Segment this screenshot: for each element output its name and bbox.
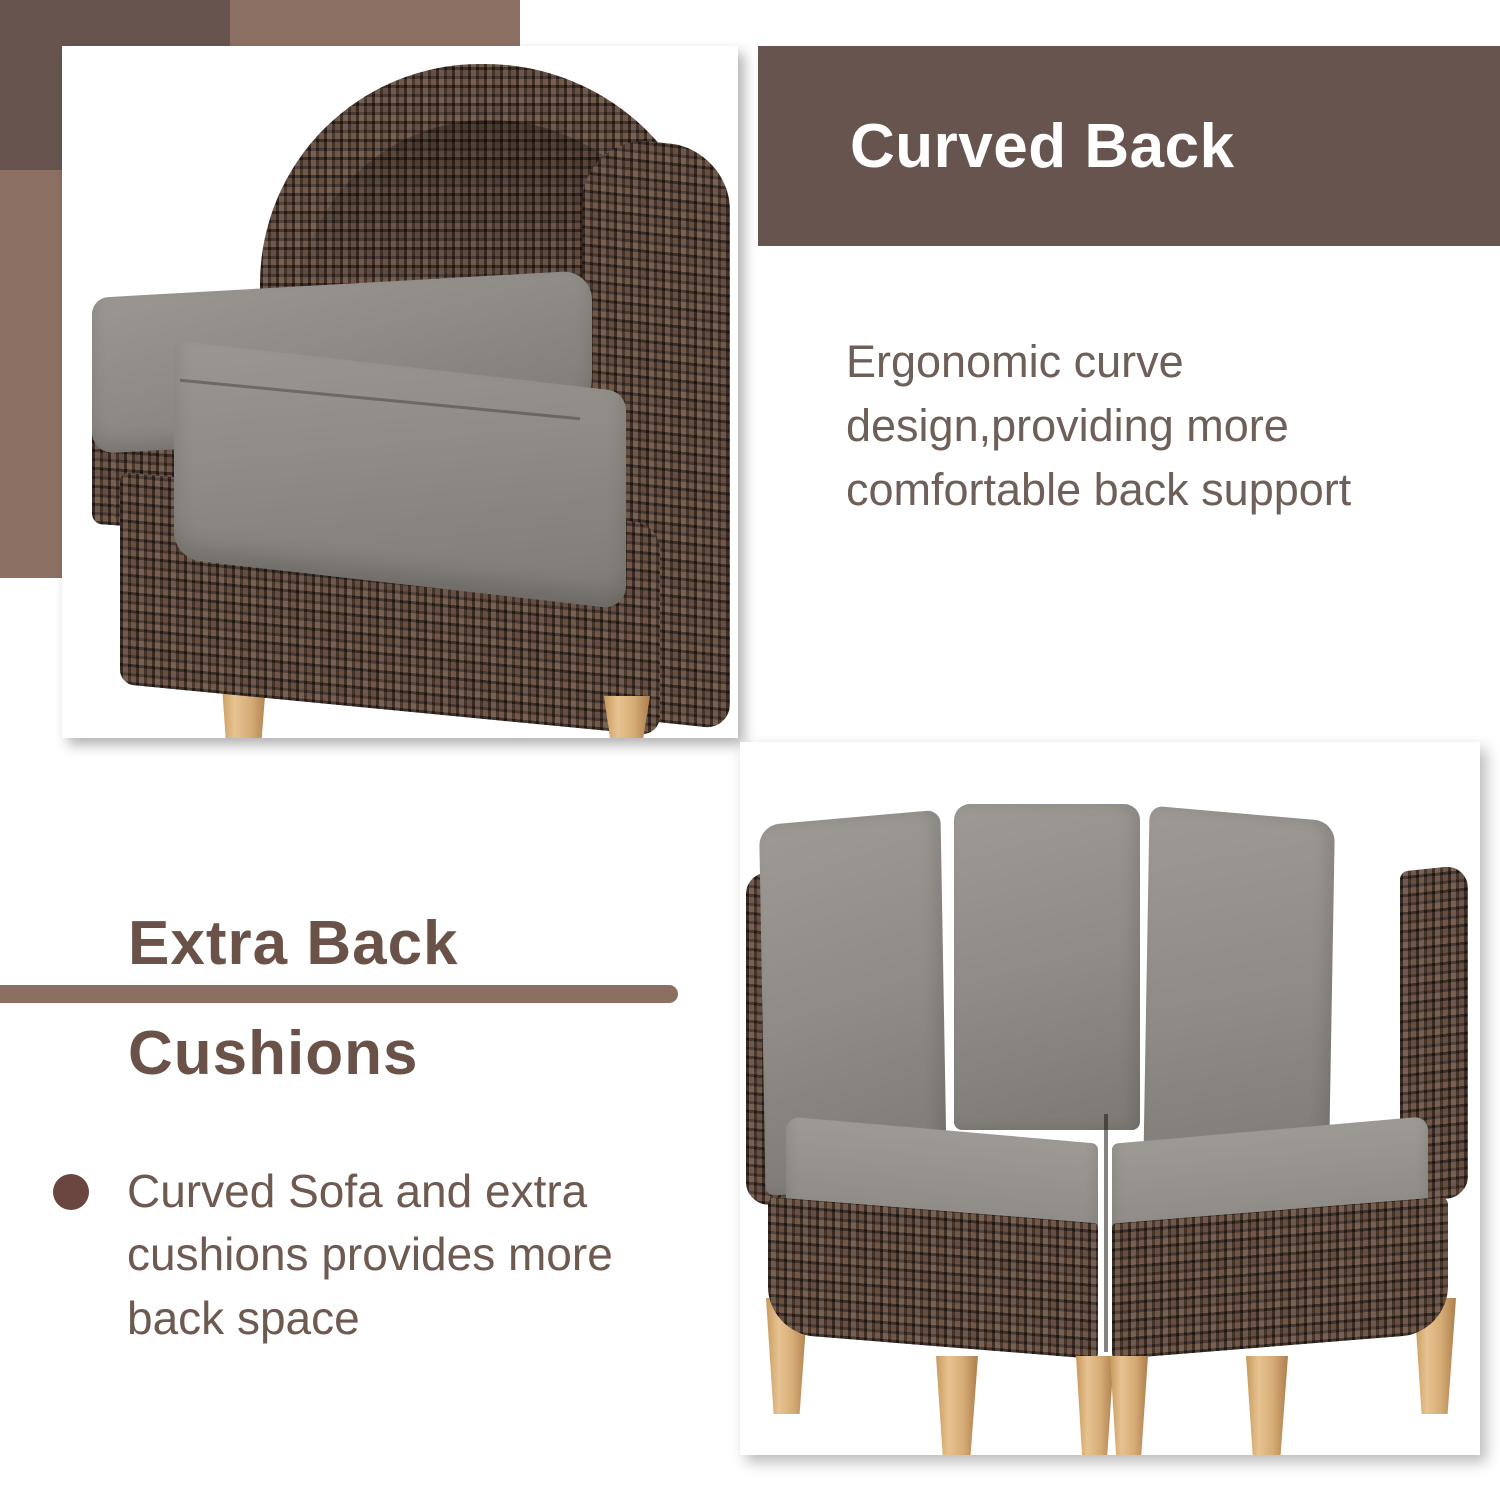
- page-title: Curved Back: [850, 111, 1235, 182]
- sofa-module-split-line: [1104, 1114, 1108, 1352]
- sofa-base-right: [1112, 1196, 1448, 1359]
- feature-bullet-text: Curved Sofa and extra cushions provides …: [127, 1160, 693, 1350]
- sofa-base-left: [768, 1197, 1098, 1360]
- sofa-leg-3: [1076, 1356, 1114, 1455]
- decor-block-tan-left: [0, 170, 64, 578]
- wicker-corner-chair-illustration: [62, 46, 738, 738]
- sofa-leg-4: [1110, 1356, 1148, 1455]
- feature-heading-line-2: Cushions: [128, 1018, 418, 1089]
- product-image-panel-sectional: [740, 742, 1480, 1455]
- bullet-dot-icon: [53, 1174, 89, 1210]
- sofa-leg-5: [1246, 1356, 1288, 1455]
- chair-leg-front-right: [604, 696, 650, 738]
- infographic-canvas: Curved Back Ergonomic curve design,provi…: [0, 0, 1500, 1490]
- curved-back-header-bar: Curved Back: [758, 46, 1500, 246]
- product-image-panel-chair: [62, 46, 738, 738]
- feature-heading-line-1: Extra Back: [128, 908, 459, 979]
- feature-bullet-item: Curved Sofa and extra cushions provides …: [53, 1160, 693, 1350]
- sofa-leg-2: [936, 1356, 978, 1455]
- heading-divider-rule: [0, 985, 678, 1003]
- feature-description-curved-back: Ergonomic curve design,providing more co…: [846, 330, 1466, 522]
- curved-sectional-sofa-illustration: [740, 742, 1480, 1455]
- sofa-back-cushion-center: [954, 804, 1140, 1130]
